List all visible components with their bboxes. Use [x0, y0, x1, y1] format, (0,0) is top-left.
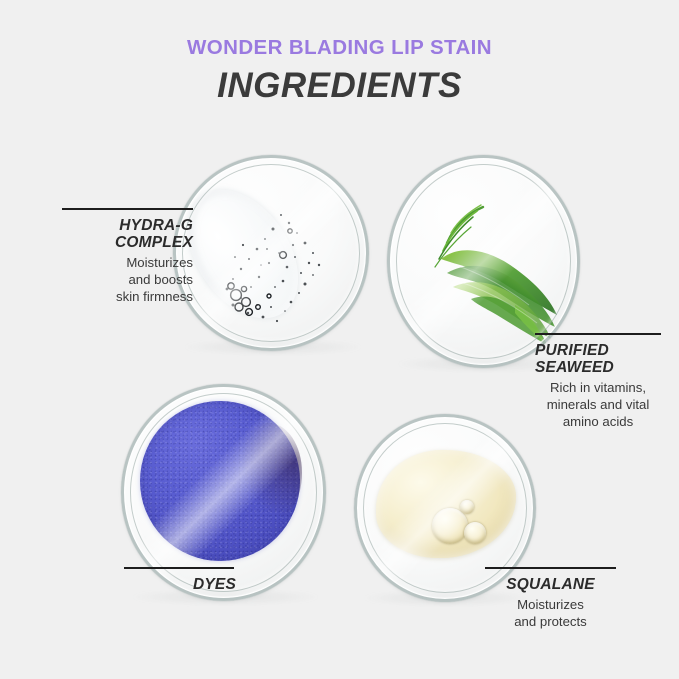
ingredient-name-line-2: COMPLEX [32, 234, 193, 251]
callout-leader-line [124, 567, 234, 569]
ingredient-description: Moisturizes and boosts skin firmness [32, 255, 193, 305]
ingredient-name-line-1: DYES [106, 576, 236, 593]
description-line-1: Rich in vitamins, [535, 380, 661, 397]
description-line-2: and boosts [32, 272, 193, 289]
ingredient-name-line-2: SEAWEED [535, 359, 661, 376]
ingredient-name-line-1: SQUALANE [485, 576, 616, 593]
ingredient-description: Moisturizes and protects [485, 597, 616, 630]
ingredient-name-line-1: PURIFIED [535, 342, 661, 359]
ingredient-description: Rich in vitamins, minerals and vital ami… [535, 380, 661, 430]
description-line-2: minerals and vital [535, 397, 661, 414]
product-line-title: WONDER BLADING LIP STAIN [0, 38, 679, 59]
ingredient-name: SQUALANE [485, 576, 616, 593]
description-line-1: Moisturizes [485, 597, 616, 614]
description-line-3: amino acids [535, 414, 661, 431]
callout-hydra-g-complex: HYDRA-G COMPLEX Moisturizes and boosts s… [32, 208, 193, 305]
ingredients-infographic: WONDER BLADING LIP STAIN INGREDIENTS [0, 0, 679, 679]
dish-rim-tint [174, 156, 368, 350]
description-line-2: and protects [485, 614, 616, 631]
description-line-1: Moisturizes [32, 255, 193, 272]
callout-leader-line [535, 333, 661, 335]
ingredient-name-line-1: HYDRA-G [32, 217, 193, 234]
callout-dyes: DYES [106, 567, 236, 593]
callout-squalane: SQUALANE Moisturizes and protects [485, 567, 616, 630]
description-line-3: skin firmness [32, 289, 193, 306]
callout-leader-line [485, 567, 616, 569]
ingredient-name: PURIFIED SEAWEED [535, 342, 661, 377]
callout-purified-seaweed: PURIFIED SEAWEED Rich in vitamins, miner… [535, 333, 661, 430]
callout-leader-line [62, 208, 193, 210]
page-title: INGREDIENTS [0, 68, 679, 103]
petri-dish-hydra-g-complex [173, 155, 369, 351]
ingredient-name: HYDRA-G COMPLEX [32, 217, 193, 252]
header-block: WONDER BLADING LIP STAIN INGREDIENTS [0, 38, 679, 103]
ingredient-name: DYES [106, 576, 236, 593]
